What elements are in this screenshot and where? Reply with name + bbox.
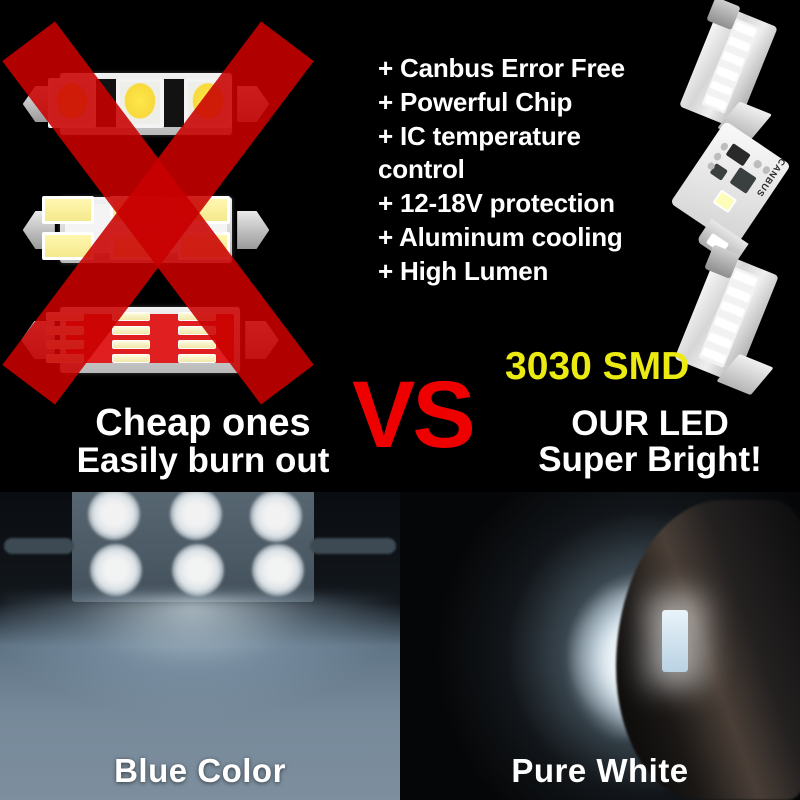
bulb-holder-right [310, 538, 396, 554]
smd-chip [46, 326, 84, 335]
cheap-bulb-3-smd [12, 58, 280, 150]
smd-chip [110, 232, 162, 260]
feature-item: control [378, 153, 688, 187]
smd-chip [42, 232, 94, 260]
smd-chip [112, 312, 150, 321]
smd-chip [178, 340, 216, 349]
our-bulb-t10-canbus: CANBUS [676, 126, 788, 250]
smd-chip [46, 312, 84, 321]
smd-chip [48, 78, 96, 128]
our-bulb-festoon-bottom [678, 254, 788, 386]
qr-chip [726, 143, 751, 166]
smd-chip [178, 312, 216, 321]
feature-item: + High Lumen [378, 255, 688, 289]
feature-list: + Canbus Error Free + Powerful Chip + IC… [378, 52, 688, 289]
cheap-headline: Cheap ones Easily burn out [38, 404, 368, 479]
bulb-cap-right [245, 321, 279, 359]
smd-chip [112, 354, 150, 363]
feature-item: + Aluminum cooling [378, 221, 688, 255]
photo-blue-color: Blue Color [0, 492, 400, 800]
smd-chip [178, 354, 216, 363]
smd-chip [178, 232, 230, 260]
smd-chip [46, 340, 84, 349]
smd-type-label: 3030 SMD [505, 345, 689, 389]
smd-chip [116, 78, 164, 128]
our-led-headline: OUR LED Super Bright! [505, 406, 795, 479]
bulb-holder-left [4, 538, 74, 554]
smd-chip [110, 196, 162, 224]
feature-item: + Powerful Chip [378, 86, 688, 120]
vs-label: VS [352, 370, 473, 460]
feature-item: + 12-18V protection [378, 187, 688, 221]
smd-chip [184, 78, 232, 128]
our-led-headline-line2: Super Bright! [505, 442, 795, 478]
smd-chip [46, 354, 84, 363]
bulb-cap-right [237, 86, 269, 123]
bottom-photo-panel: Blue Color Pure White [0, 492, 800, 800]
caption-blue-color: Blue Color [0, 752, 400, 790]
cheap-headline-line2: Easily burn out [38, 443, 368, 479]
our-bulb-festoon-top [682, 6, 786, 132]
smd-chip [712, 190, 736, 214]
driver-ic [729, 167, 757, 195]
smd-chip [178, 326, 216, 335]
feature-item: + Canbus Error Free [378, 52, 688, 86]
lit-cheap-bulb [72, 492, 314, 602]
bulb-cap-right [237, 211, 269, 249]
cheap-bulb-6-smd [12, 182, 280, 278]
smd-chip [112, 326, 150, 335]
smd-chip [178, 196, 230, 224]
blue-light-glow [0, 596, 400, 716]
smd-chip [42, 196, 94, 224]
product-comparison-image: + Canbus Error Free + Powerful Chip + IC… [0, 0, 800, 800]
cheap-bulb-multi-smd [10, 292, 290, 388]
feature-item: + IC temperature [378, 120, 688, 154]
caption-pure-white: Pure White [400, 752, 800, 790]
photo-pure-white: Pure White [400, 492, 800, 800]
cheap-headline-line1: Cheap ones [38, 404, 368, 443]
lit-our-bulb [662, 610, 688, 672]
top-comparison-panel: + Canbus Error Free + Powerful Chip + IC… [0, 0, 800, 492]
our-led-headline-line1: OUR LED [505, 406, 795, 442]
smd-chip [112, 340, 150, 349]
